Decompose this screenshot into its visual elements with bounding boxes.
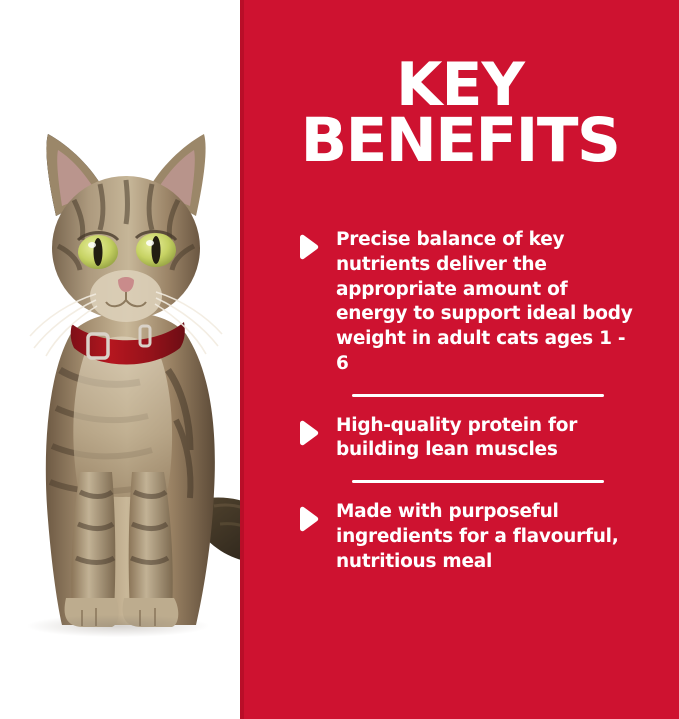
benefit-divider bbox=[352, 480, 604, 483]
triangle-right-icon bbox=[296, 234, 320, 260]
cat-muzzle bbox=[90, 270, 162, 322]
cat-photo bbox=[0, 120, 262, 640]
benefit-text: Precise balance of key nutrients deliver… bbox=[336, 228, 636, 377]
red-panel-edge-stripe bbox=[240, 0, 244, 719]
cat-image-panel bbox=[0, 0, 240, 719]
cat-shadow bbox=[28, 615, 208, 637]
benefit-divider bbox=[352, 394, 604, 397]
benefit-text: High-quality protein for building lean m… bbox=[336, 414, 636, 464]
key-benefits-poster: KEY BENEFITS Precise balance of key nutr… bbox=[0, 0, 679, 719]
triangle-right-icon bbox=[296, 420, 320, 446]
page-title-line2: BENEFITS bbox=[260, 113, 660, 169]
benefits-list: Precise balance of key nutrients deliver… bbox=[296, 228, 656, 575]
benefit-item: High-quality protein for building lean m… bbox=[296, 414, 656, 464]
page-title: KEY BENEFITS bbox=[260, 58, 660, 169]
benefit-item: Made with purposeful ingredients for a f… bbox=[296, 500, 656, 574]
benefit-text: Made with purposeful ingredients for a f… bbox=[336, 500, 636, 574]
cat-illustration bbox=[0, 120, 262, 640]
benefit-item: Precise balance of key nutrients deliver… bbox=[296, 228, 656, 377]
triangle-right-icon bbox=[296, 506, 320, 532]
